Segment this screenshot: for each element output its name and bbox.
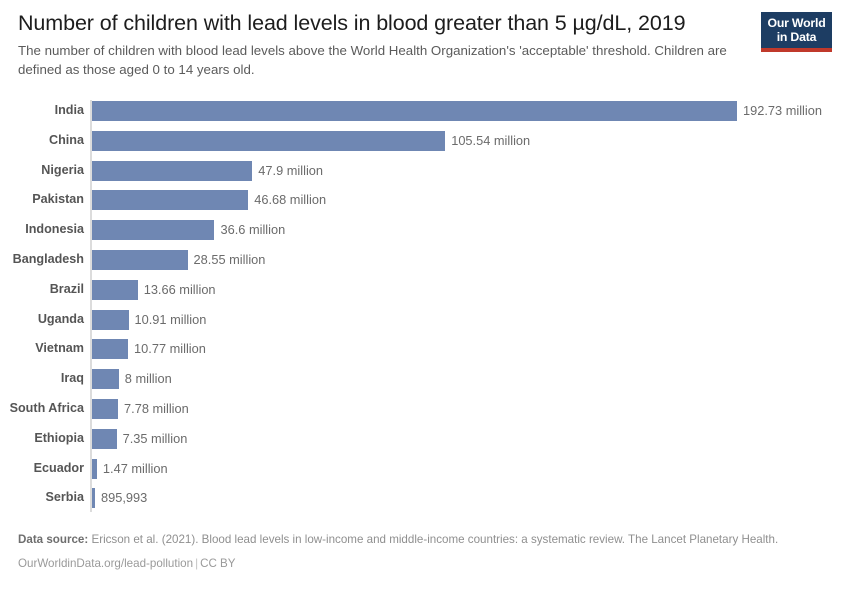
bar[interactable] (92, 190, 248, 210)
bar[interactable] (92, 399, 118, 419)
bar-value-label: 8 million (125, 364, 172, 394)
bar-value-label: 895,993 (101, 483, 147, 513)
bar-category-label: Pakistan (0, 185, 84, 215)
bar-row[interactable]: Iraq8 million (0, 364, 850, 394)
bar-row[interactable]: China105.54 million (0, 126, 850, 156)
chart-footer: Data source: Ericson et al. (2021). Bloo… (18, 532, 832, 572)
bar[interactable] (92, 101, 737, 121)
bar-value-label: 7.35 million (123, 424, 188, 454)
bar-row[interactable]: Vietnam10.77 million (0, 334, 850, 364)
bar-category-label: India (0, 96, 84, 126)
our-world-in-data-logo[interactable]: Our World in Data (761, 12, 832, 52)
source-url[interactable]: OurWorldinData.org/lead-pollution (18, 557, 193, 570)
bar-value-label: 7.78 million (124, 394, 189, 424)
bar[interactable] (92, 459, 97, 479)
bar[interactable] (92, 310, 129, 330)
bar-category-label: Ethiopia (0, 424, 84, 454)
bar[interactable] (92, 131, 445, 151)
data-source-label: Data source: (18, 533, 88, 546)
bar-category-label: Vietnam (0, 334, 84, 364)
bar-row[interactable]: Brazil13.66 million (0, 275, 850, 305)
bar-chart: India192.73 millionChina105.54 millionNi… (0, 96, 850, 520)
bar[interactable] (92, 369, 119, 389)
bar-value-label: 36.6 million (220, 215, 285, 245)
data-source: Data source: Ericson et al. (2021). Bloo… (18, 532, 818, 548)
logo-line-2: in Data (765, 31, 828, 45)
license-label[interactable]: CC BY (200, 557, 235, 570)
bar-category-label: China (0, 126, 84, 156)
chart-header: Number of children with lead levels in b… (18, 10, 832, 79)
bar-category-label: Nigeria (0, 156, 84, 186)
bar-value-label: 47.9 million (258, 156, 323, 186)
bar[interactable] (92, 488, 95, 508)
bar-value-label: 10.77 million (134, 334, 206, 364)
chart-page: Number of children with lead levels in b… (0, 0, 850, 600)
bar-value-label: 10.91 million (135, 305, 207, 335)
bar-value-label: 28.55 million (194, 245, 266, 275)
bar[interactable] (92, 339, 128, 359)
bar-value-label: 105.54 million (451, 126, 530, 156)
page-title: Number of children with lead levels in b… (18, 10, 758, 36)
license-line: OurWorldinData.org/lead-pollution|CC BY (18, 556, 832, 572)
bar-value-label: 192.73 million (743, 96, 822, 126)
bar[interactable] (92, 429, 117, 449)
bar[interactable] (92, 220, 214, 240)
bar-row[interactable]: Nigeria47.9 million (0, 156, 850, 186)
bar-row[interactable]: South Africa7.78 million (0, 394, 850, 424)
bar[interactable] (92, 250, 188, 270)
bar-row[interactable]: Pakistan46.68 million (0, 185, 850, 215)
bar-value-label: 46.68 million (254, 185, 326, 215)
bar-category-label: Ecuador (0, 454, 84, 484)
bar-rows: India192.73 millionChina105.54 millionNi… (0, 96, 850, 513)
bar-row[interactable]: Uganda10.91 million (0, 305, 850, 335)
bar-row[interactable]: Serbia895,993 (0, 483, 850, 513)
bar-row[interactable]: Ecuador1.47 million (0, 454, 850, 484)
bar-category-label: Indonesia (0, 215, 84, 245)
bar-category-label: Serbia (0, 483, 84, 513)
bar-row[interactable]: Ethiopia7.35 million (0, 424, 850, 454)
logo-line-1: Our World (765, 17, 828, 31)
bar-value-label: 1.47 million (103, 454, 168, 484)
bar-category-label: Brazil (0, 275, 84, 305)
bar-category-label: Iraq (0, 364, 84, 394)
bar-category-label: South Africa (0, 394, 84, 424)
bar-category-label: Uganda (0, 305, 84, 335)
bar[interactable] (92, 161, 252, 181)
bar-row[interactable]: Bangladesh28.55 million (0, 245, 850, 275)
data-source-text: Ericson et al. (2021). Blood lead levels… (91, 533, 778, 546)
bar-row[interactable]: India192.73 million (0, 96, 850, 126)
bar-row[interactable]: Indonesia36.6 million (0, 215, 850, 245)
bar-value-label: 13.66 million (144, 275, 216, 305)
bar[interactable] (92, 280, 138, 300)
chart-subtitle: The number of children with blood lead l… (18, 42, 734, 79)
bar-category-label: Bangladesh (0, 245, 84, 275)
